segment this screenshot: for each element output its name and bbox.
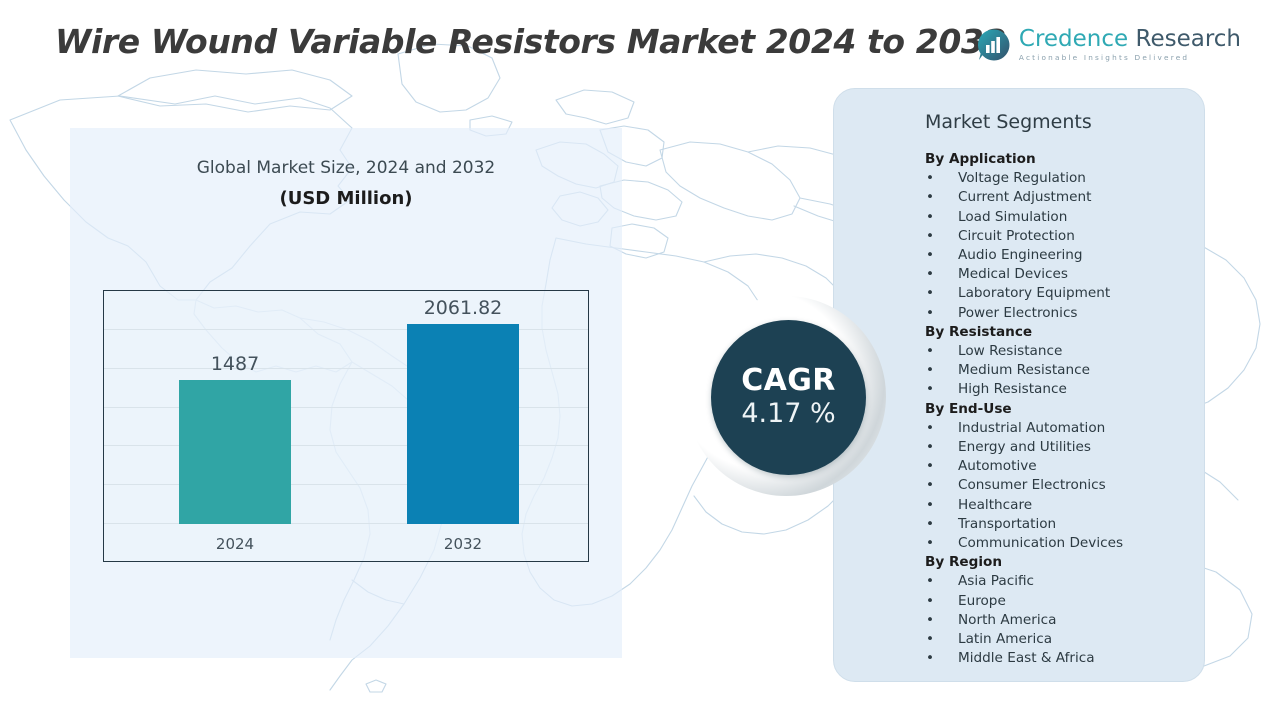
bullet-icon: •: [926, 515, 934, 534]
category-label-2024: 2024: [179, 535, 291, 553]
segment-group-title: By Region: [834, 553, 1204, 572]
bar-2024: [179, 380, 291, 524]
bar-value-label-2032: 2061.82: [407, 297, 519, 319]
bar-chart-plot-area: 1487 2061.82 2024 2032: [103, 290, 589, 562]
category-label-2032: 2032: [407, 535, 519, 553]
segment-item-label: Current Adjustment: [958, 189, 1091, 205]
bullet-icon: •: [926, 361, 934, 380]
bullet-icon: •: [926, 265, 934, 284]
bullet-icon: •: [926, 611, 934, 630]
bullet-icon: •: [926, 592, 934, 611]
segment-list-item: •Circuit Protection: [834, 227, 1204, 246]
segment-list-item: •Consumer Electronics: [834, 476, 1204, 495]
brand-text: Credence Research Actionable Insights De…: [1019, 28, 1241, 62]
segment-item-label: Industrial Automation: [958, 420, 1105, 436]
segment-item-label: High Resistance: [958, 381, 1067, 397]
segment-item-label: Europe: [958, 593, 1006, 609]
segment-list-item: •Energy and Utilities: [834, 438, 1204, 457]
segment-list-item: •Audio Engineering: [834, 246, 1204, 265]
bullet-icon: •: [926, 169, 934, 188]
segment-item-label: Communication Devices: [958, 535, 1123, 551]
segment-list-item: •Healthcare: [834, 496, 1204, 515]
cagr-value: 4.17 %: [741, 398, 835, 430]
segment-list-item: •Automotive: [834, 457, 1204, 476]
bullet-icon: •: [926, 649, 934, 668]
segment-item-label: Healthcare: [958, 497, 1032, 513]
chart-panel: Global Market Size, 2024 and 2032 (USD M…: [70, 128, 622, 658]
segment-group: By End-Use•Industrial Automation•Energy …: [834, 400, 1204, 554]
segment-item-label: Medium Resistance: [958, 362, 1090, 378]
segment-item-label: Voltage Regulation: [958, 170, 1086, 186]
bullet-icon: •: [926, 380, 934, 399]
bullet-icon: •: [926, 476, 934, 495]
segment-item-label: Latin America: [958, 631, 1052, 647]
chart-title-primary: Global Market Size, 2024 and 2032: [70, 158, 622, 178]
bullet-icon: •: [926, 304, 934, 323]
segment-item-label: Transportation: [958, 516, 1056, 532]
segment-item-label: Low Resistance: [958, 343, 1062, 359]
segment-group-title: By Application: [834, 150, 1204, 169]
segment-group: By Resistance•Low Resistance•Medium Resi…: [834, 323, 1204, 400]
segment-group-title: By Resistance: [834, 323, 1204, 342]
bullet-icon: •: [926, 284, 934, 303]
segment-list-item: •Medium Resistance: [834, 361, 1204, 380]
segment-list-item: •High Resistance: [834, 380, 1204, 399]
bullet-icon: •: [926, 534, 934, 553]
segment-item-label: Middle East & Africa: [958, 650, 1095, 666]
bar-value-label-2024: 1487: [179, 353, 291, 375]
market-segments-groups: By Application•Voltage Regulation•Curren…: [834, 150, 1204, 668]
segment-item-label: Energy and Utilities: [958, 439, 1091, 455]
cagr-badge: CAGR 4.17 %: [686, 296, 886, 496]
segment-item-label: Power Electronics: [958, 305, 1078, 321]
segment-list-item: •Latin America: [834, 630, 1204, 649]
bullet-icon: •: [926, 457, 934, 476]
bar-2032: [407, 324, 519, 524]
bullet-icon: •: [926, 419, 934, 438]
cagr-label: CAGR: [741, 365, 836, 397]
bullet-icon: •: [926, 227, 934, 246]
segment-item-label: Load Simulation: [958, 209, 1067, 225]
segment-item-label: North America: [958, 612, 1056, 628]
segment-item-label: Audio Engineering: [958, 247, 1083, 263]
segment-list-item: •Europe: [834, 592, 1204, 611]
cagr-circle: CAGR 4.17 %: [711, 320, 866, 475]
bullet-icon: •: [926, 438, 934, 457]
bullet-icon: •: [926, 246, 934, 265]
segment-group: By Application•Voltage Regulation•Curren…: [834, 150, 1204, 323]
bullet-icon: •: [926, 630, 934, 649]
segment-list-item: •Middle East & Africa: [834, 649, 1204, 668]
page-title: Wire Wound Variable Resistors Market 202…: [55, 22, 1006, 61]
market-segments-heading: Market Segments: [834, 111, 1204, 133]
bullet-icon: •: [926, 572, 934, 591]
segment-list-item: •North America: [834, 611, 1204, 630]
segment-item-label: Circuit Protection: [958, 228, 1075, 244]
segment-list-item: •Asia Pacific: [834, 572, 1204, 591]
market-segments-panel: Market Segments By Application•Voltage R…: [833, 88, 1205, 682]
segment-list-item: •Load Simulation: [834, 208, 1204, 227]
infographic-page: Wire Wound Variable Resistors Market 202…: [0, 0, 1267, 713]
chart-title-units: (USD Million): [70, 188, 622, 209]
brand-tagline: Actionable Insights Delivered: [1019, 53, 1241, 62]
segment-list-item: •Communication Devices: [834, 534, 1204, 553]
segment-group: By Region•Asia Pacific•Europe•North Amer…: [834, 553, 1204, 668]
segment-list-item: •Medical Devices: [834, 265, 1204, 284]
segment-list-item: •Industrial Automation: [834, 419, 1204, 438]
segment-list-item: •Voltage Regulation: [834, 169, 1204, 188]
segment-group-title: By End-Use: [834, 400, 1204, 419]
segment-item-label: Automotive: [958, 458, 1037, 474]
segment-list-item: •Power Electronics: [834, 304, 1204, 323]
segment-item-label: Medical Devices: [958, 266, 1068, 282]
segment-item-label: Laboratory Equipment: [958, 285, 1110, 301]
segment-list-item: •Transportation: [834, 515, 1204, 534]
bullet-icon: •: [926, 342, 934, 361]
bullet-icon: •: [926, 208, 934, 227]
segment-list-item: •Laboratory Equipment: [834, 284, 1204, 303]
segment-item-label: Consumer Electronics: [958, 477, 1106, 493]
segment-list-item: •Current Adjustment: [834, 188, 1204, 207]
bullet-icon: •: [926, 496, 934, 515]
brand-name-first: Credence: [1019, 26, 1128, 52]
segment-list-item: •Low Resistance: [834, 342, 1204, 361]
brand-name-second: Research: [1128, 26, 1241, 52]
brand-name: Credence Research: [1019, 28, 1241, 51]
brand-logo: Credence Research Actionable Insights De…: [976, 28, 1241, 62]
bullet-icon: •: [926, 188, 934, 207]
segment-item-label: Asia Pacific: [958, 573, 1034, 589]
bar-chart-bubble-logo-icon: [976, 28, 1010, 62]
